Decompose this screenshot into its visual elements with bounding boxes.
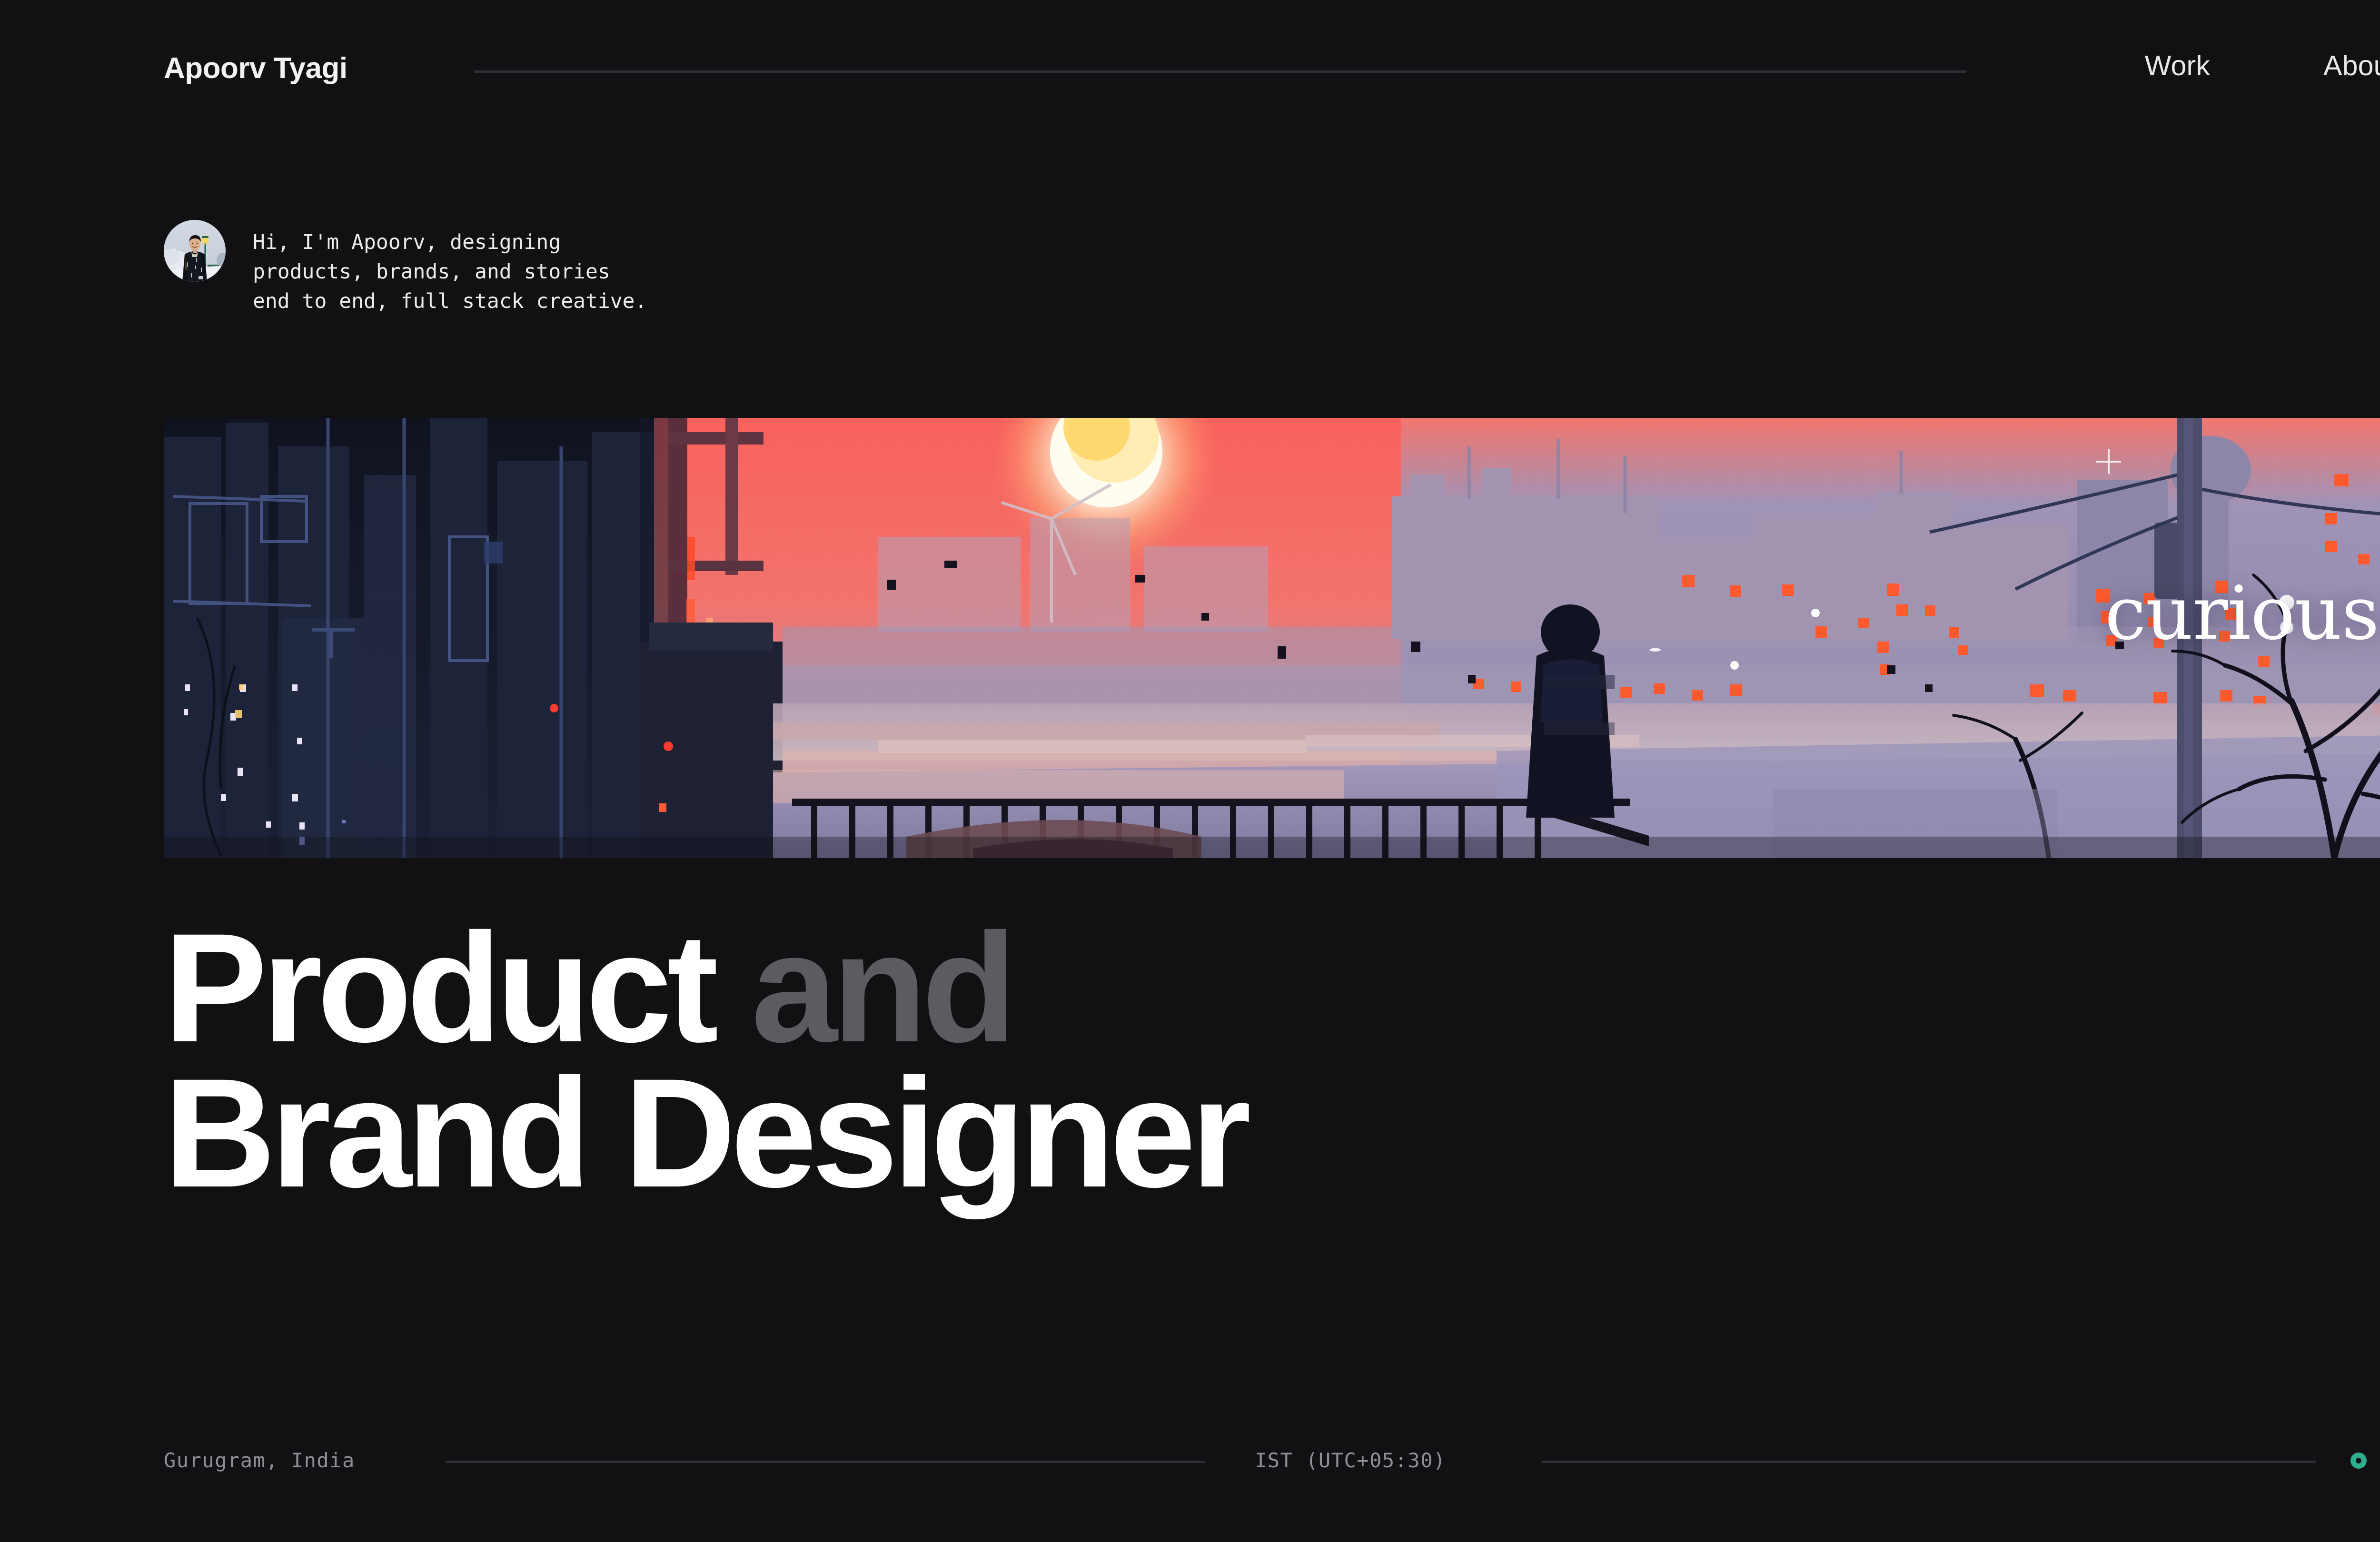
intro-text: Hi, I'm Apoorv, designing products, bran… xyxy=(253,220,647,316)
hero-overlay-word: curious. xyxy=(2105,576,2380,650)
footer-divider-1 xyxy=(446,1461,1205,1463)
intro-block: Hi, I'm Apoorv, designing products, bran… xyxy=(164,220,647,316)
page-title: Product and Brand Designer xyxy=(164,916,1246,1206)
footer-divider-2 xyxy=(1542,1461,2316,1463)
nav-link-work[interactable]: Work xyxy=(2145,49,2210,82)
footer-location: Gurugram, India xyxy=(164,1449,355,1472)
hero-image[interactable]: curious. xyxy=(164,418,2380,858)
header-divider xyxy=(474,70,1966,73)
nav-link-about[interactable]: About xyxy=(2323,49,2380,82)
site-header: Apoorv Tyagi Work About Contact xyxy=(0,0,2380,143)
status-badge[interactable]: OPEN TO WORK xyxy=(2350,1449,2380,1472)
primary-nav: Work About Contact xyxy=(2145,49,2380,82)
avatar xyxy=(164,220,226,282)
site-logo[interactable]: Apoorv Tyagi xyxy=(164,51,347,85)
page-root: Apoorv Tyagi Work About Contact xyxy=(0,0,2380,1542)
footer-timezone: IST (UTC+05:30) xyxy=(1255,1449,1446,1472)
site-footer: Gurugram, India IST (UTC+05:30) OPEN TO … xyxy=(0,1437,2380,1466)
headline-line2: Brand Designer xyxy=(164,1061,1246,1206)
status-ring-icon xyxy=(2350,1453,2367,1469)
